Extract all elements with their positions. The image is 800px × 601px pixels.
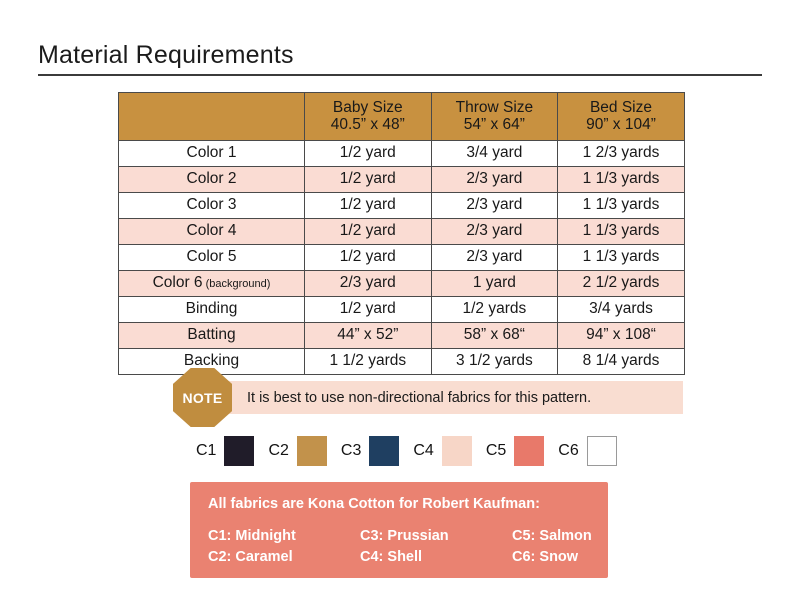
fabric-legend-entry: C6: Snow — [512, 549, 608, 565]
color-swatch-box — [442, 436, 472, 466]
table-cell: 58” x 68“ — [431, 323, 558, 349]
color-swatch-box — [297, 436, 327, 466]
header-size-dimensions: 40.5” x 48” — [305, 117, 431, 133]
table-cell: 3 1/2 yards — [431, 349, 558, 375]
table-row: Binding1/2 yard1/2 yards3/4 yards — [119, 297, 685, 323]
fabric-legend-entry: C3: Prussian — [360, 528, 512, 544]
note-bar: It is best to use non-directional fabric… — [203, 381, 683, 414]
table-row-label: Color 3 — [119, 193, 305, 219]
table-cell: 1 yard — [431, 271, 558, 297]
color-swatch-box — [224, 436, 254, 466]
table-header-cell-size-1: Baby Size40.5” x 48” — [305, 93, 432, 141]
table-cell: 2/3 yard — [431, 245, 558, 271]
table-cell: 1/2 yard — [305, 219, 432, 245]
material-requirements-table-container: Baby Size40.5” x 48”Throw Size54” x 64”B… — [118, 92, 684, 375]
color-swatch-item: C4 — [413, 436, 471, 466]
table-cell: 1/2 yard — [305, 141, 432, 167]
color-swatch-box — [369, 436, 399, 466]
header-size-dimensions: 54” x 64” — [432, 117, 558, 133]
color-swatch-label: C6 — [558, 442, 578, 460]
table-row: Batting44” x 52”58” x 68“94” x 108“ — [119, 323, 685, 349]
color-swatch-item: C1 — [196, 436, 254, 466]
table-cell: 2 1/2 yards — [558, 271, 685, 297]
header-size-name: Baby Size — [305, 100, 431, 116]
fabric-legend-entry: C5: Salmon — [512, 528, 608, 544]
fabric-legend-entry: C1: Midnight — [208, 528, 360, 544]
table-cell: 2/3 yard — [431, 193, 558, 219]
title-divider — [38, 74, 762, 76]
color-swatch-box — [587, 436, 617, 466]
table-cell: 1 1/2 yards — [305, 349, 432, 375]
table-header: Baby Size40.5” x 48”Throw Size54” x 64”B… — [119, 93, 685, 141]
table-row-label: Binding — [119, 297, 305, 323]
table-cell: 2/3 yard — [305, 271, 432, 297]
table-row: Color 31/2 yard2/3 yard1 1/3 yards — [119, 193, 685, 219]
table-cell: 3/4 yards — [558, 297, 685, 323]
table-cell: 1/2 yard — [305, 297, 432, 323]
table-row-label: Color 1 — [119, 141, 305, 167]
table-row: Color 41/2 yard2/3 yard1 1/3 yards — [119, 219, 685, 245]
color-swatch-item: C2 — [268, 436, 326, 466]
color-swatch-item: C5 — [486, 436, 544, 466]
note-badge-icon: NOTE — [173, 368, 232, 427]
fabric-legend-heading: All fabrics are Kona Cotton for Robert K… — [208, 496, 608, 512]
table-header-row: Baby Size40.5” x 48”Throw Size54” x 64”B… — [119, 93, 685, 141]
table-body: Color 11/2 yard3/4 yard1 2/3 yardsColor … — [119, 141, 685, 375]
table-header-cell-size-2: Throw Size54” x 64” — [431, 93, 558, 141]
note-callout: It is best to use non-directional fabric… — [173, 381, 683, 414]
table-cell: 1 2/3 yards — [558, 141, 685, 167]
table-row-label: Batting — [119, 323, 305, 349]
table-row-label: Color 4 — [119, 219, 305, 245]
table-cell: 1/2 yards — [431, 297, 558, 323]
fabric-legend-entry: C2: Caramel — [208, 549, 360, 565]
table-cell: 1/2 yard — [305, 193, 432, 219]
color-swatch-label: C5 — [486, 442, 506, 460]
color-swatch-label: C1 — [196, 442, 216, 460]
header-size-name: Bed Size — [558, 100, 684, 116]
table-row-label-note: (background) — [203, 278, 271, 290]
table-row-label: Color 6 (background) — [119, 271, 305, 297]
table-cell: 1 1/3 yards — [558, 245, 685, 271]
note-text: It is best to use non-directional fabric… — [247, 390, 591, 406]
color-swatch-item: C6 — [558, 436, 616, 466]
table-cell: 3/4 yard — [431, 141, 558, 167]
table-row: Color 6 (background)2/3 yard1 yard2 1/2 … — [119, 271, 685, 297]
color-swatch-label: C4 — [413, 442, 433, 460]
page-title: Material Requirements — [38, 40, 762, 70]
table-header-cell-blank — [119, 93, 305, 141]
table-cell: 44” x 52” — [305, 323, 432, 349]
header-size-name: Throw Size — [432, 100, 558, 116]
color-swatch-label: C3 — [341, 442, 361, 460]
table-header-cell-size-3: Bed Size90” x 104” — [558, 93, 685, 141]
table-row-label: Color 5 — [119, 245, 305, 271]
table-cell: 1 1/3 yards — [558, 193, 685, 219]
table-row: Color 21/2 yard2/3 yard1 1/3 yards — [119, 167, 685, 193]
table-cell: 1 1/3 yards — [558, 219, 685, 245]
table-cell: 1/2 yard — [305, 245, 432, 271]
table-cell: 8 1/4 yards — [558, 349, 685, 375]
table-cell: 2/3 yard — [431, 219, 558, 245]
table-cell: 2/3 yard — [431, 167, 558, 193]
table-cell: 1 1/3 yards — [558, 167, 685, 193]
table-cell: 94” x 108“ — [558, 323, 685, 349]
color-swatch-box — [514, 436, 544, 466]
table-cell: 1/2 yard — [305, 167, 432, 193]
table-row: Color 51/2 yard2/3 yard1 1/3 yards — [119, 245, 685, 271]
color-swatch-item: C3 — [341, 436, 399, 466]
fabric-legend-grid: C1: MidnightC3: PrussianC5: SalmonC2: Ca… — [208, 528, 608, 565]
color-swatch-label: C2 — [268, 442, 288, 460]
header-size-dimensions: 90” x 104” — [558, 117, 684, 133]
material-requirements-table: Baby Size40.5” x 48”Throw Size54” x 64”B… — [118, 92, 685, 375]
color-swatch-strip: C1C2C3C4C5C6 — [196, 436, 617, 466]
table-row: Color 11/2 yard3/4 yard1 2/3 yards — [119, 141, 685, 167]
page-header: Material Requirements — [38, 40, 762, 76]
fabric-legend-box: All fabrics are Kona Cotton for Robert K… — [190, 482, 608, 578]
table-row-label: Color 2 — [119, 167, 305, 193]
fabric-legend-entry: C4: Shell — [360, 549, 512, 565]
note-badge-label: NOTE — [182, 390, 222, 406]
